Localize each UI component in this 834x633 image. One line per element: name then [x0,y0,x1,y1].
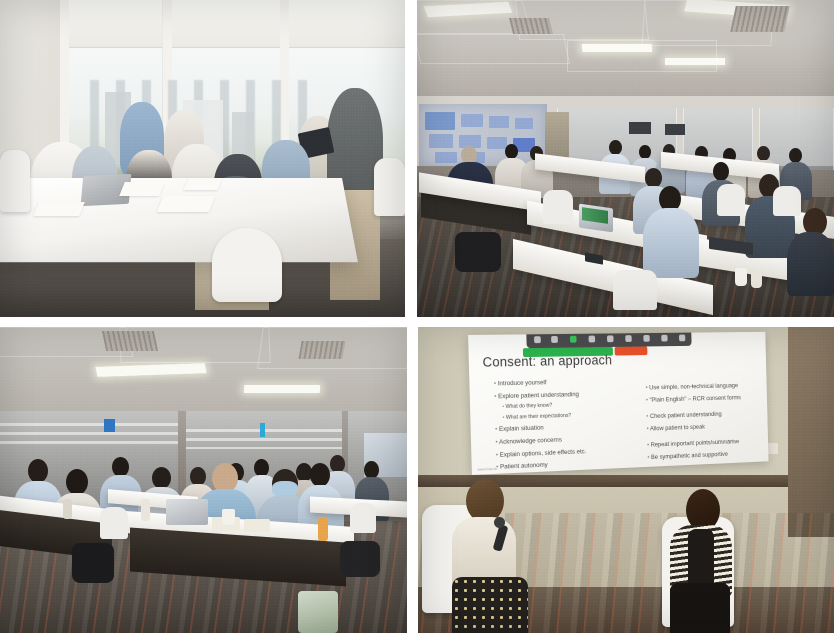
zoom-participant-tile [489,116,509,128]
zoom-toolbar-icon [661,335,667,342]
person-skirt-left [452,577,528,633]
wall-monitor [665,124,685,135]
zoom-toolbar-icon [589,336,596,343]
projected-zoom-gallery [419,104,547,166]
accessibility-sign [104,419,115,432]
ceiling-light [582,44,653,52]
handout-paper [157,196,215,212]
window-blind [168,0,280,48]
handout-paper [33,202,85,216]
wall-monitor [629,122,651,134]
person-top-right [688,529,714,591]
air-vent [509,18,553,34]
drink-bottle [63,499,72,519]
person-head [28,459,48,483]
zoom-toolbar-icon [607,335,614,342]
office-chair [0,150,30,212]
backpack [340,541,380,577]
window-blind [62,0,162,48]
door-panel [788,327,834,537]
frosted-band [0,423,178,445]
office-chair [374,158,405,216]
zoom-participant-tile [425,112,455,130]
drink-bottle [318,517,328,541]
slide-right-bullet-list: Use simple, non-technical language "Plai… [639,380,755,405]
air-vent [298,341,345,359]
person-head [66,469,88,495]
zoom-toolbar-icon [679,335,685,342]
slide-right-column: Use simple, non-technical language "Plai… [639,380,757,465]
photo-top-left[interactable] [0,0,405,317]
ceiling-tile [417,34,570,64]
zoom-toolbar-icon [570,336,577,343]
person-head [645,168,662,188]
photo-collage: Consent: an approach Introduce yourself … [0,0,834,633]
conference-table [0,178,358,262]
slide-left-column: Introduce yourself Explore patient under… [487,376,631,475]
slide-left-bullet-list: Introduce yourself Explore patient under… [487,376,631,474]
backpack [455,232,501,272]
air-vent [102,331,158,351]
slide-bullet: Explore patient understanding What do th… [494,388,629,423]
slide-title: Consent: an approach [482,353,612,370]
stop-share-button[interactable] [615,346,648,355]
takeaway-container [244,519,270,532]
coffee-cup [222,509,235,525]
person-trousers-right [670,583,730,633]
air-vent [730,6,790,32]
handout-paper [184,178,223,190]
person-head [609,140,622,155]
slide-footer: www.rcr.ac.uk [478,467,497,472]
office-chair [613,270,657,310]
zoom-participant-tile [487,137,507,149]
presentation-slide: Consent: an approach Introduce yourself … [468,332,768,475]
microphone-head [494,517,505,528]
slide-right-bullet-list-2: Check patient understanding Allow patien… [640,408,756,434]
person-head [789,148,802,163]
office-chair [543,190,573,224]
photo-bottom-left[interactable] [0,327,407,633]
office-chair [350,503,376,533]
tote-bag [298,591,338,633]
backpack [72,543,114,583]
person-head [713,162,729,181]
photo-top-right[interactable] [417,0,834,317]
laptop [166,499,208,525]
office-chair [773,186,801,216]
person-foreground [643,208,699,278]
person-head [639,145,651,159]
window-blind [286,0,405,48]
person-head [757,146,770,161]
exit-sign [260,423,265,437]
zoom-toolbar-icon [551,336,558,343]
person-head [310,463,330,487]
coffee-cup [751,272,762,288]
zoom-toolbar-icon [643,335,649,342]
zoom-toolbar-icon [534,336,541,343]
person-foreground [787,232,834,296]
person-head [505,144,518,159]
zoom-participant-tile [461,114,483,127]
zoom-participant-tile [515,118,533,129]
drink-bottle [141,499,150,521]
zoom-participant-tile [429,134,453,148]
office-chair [212,228,282,302]
coffee-cup [735,268,747,286]
slide-sub-bullet-list: What do they know? What are their expect… [494,399,629,423]
person-head [152,467,171,489]
handout-paper [119,182,165,196]
ceiling-light [244,385,321,393]
zoom-toolbar[interactable] [526,332,691,348]
slide-right-bullet-list-3: Repeat important points/summarise Be sym… [641,436,757,463]
person-head [112,457,129,477]
photo-bottom-right[interactable]: Consent: an approach Introduce yourself … [418,327,834,633]
zoom-participant-tile [435,152,457,163]
office-chair [100,507,128,539]
ceiling-light [665,58,725,65]
office-chair [717,184,745,216]
zoom-toolbar-icon [625,335,632,342]
